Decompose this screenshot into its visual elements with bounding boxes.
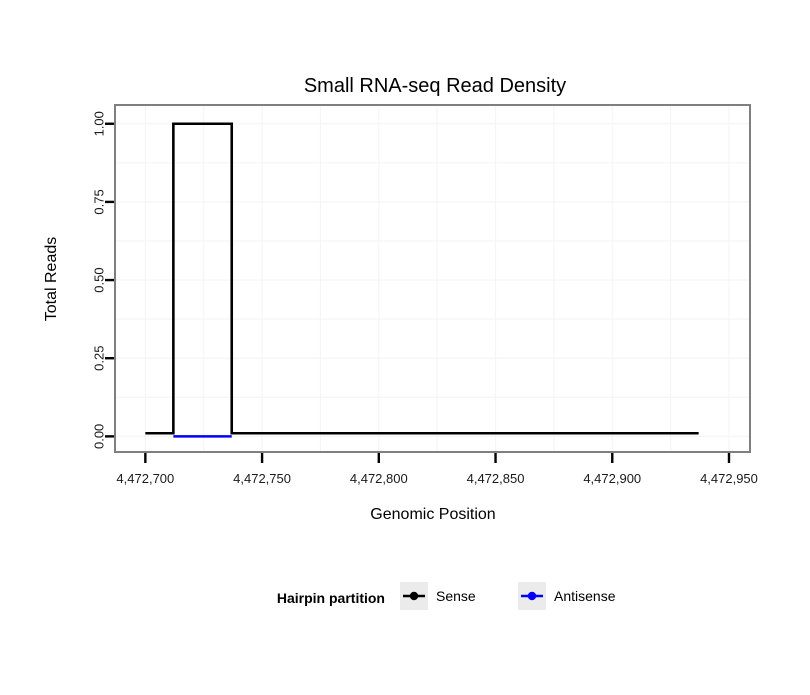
chart-container: Small RNA-seq Read Density Total Reads G… [0,0,810,690]
legend-key-point-icon [528,592,536,600]
y-tick-label: 0.00 [92,424,107,449]
plot-panel-background [115,105,750,452]
y-axis-title: Total Reads [43,237,60,322]
legend-entry-label: Sense [436,588,476,604]
y-tick-label: 0.75 [92,189,107,214]
y-tick-label: 0.25 [92,346,107,371]
legend-key-point-icon [410,592,418,600]
x-axis-title: Genomic Position [370,506,495,523]
x-tick-label: 4,472,900 [583,471,641,486]
x-tick-label: 4,472,800 [350,471,408,486]
x-tick-label: 4,472,750 [233,471,291,486]
legend-title: Hairpin partition [277,590,385,606]
x-tick-label: 4,472,850 [467,471,525,486]
legend-entry-label: Antisense [554,588,616,604]
x-tick-label: 4,472,700 [116,471,174,486]
small-rna-seq-read-density-chart: Small RNA-seq Read Density Total Reads G… [0,0,810,690]
y-tick-label: 0.50 [92,267,107,292]
x-tick-label: 4,472,950 [700,471,758,486]
y-tick-label: 1.00 [92,111,107,136]
chart-title: Small RNA-seq Read Density [304,75,566,97]
